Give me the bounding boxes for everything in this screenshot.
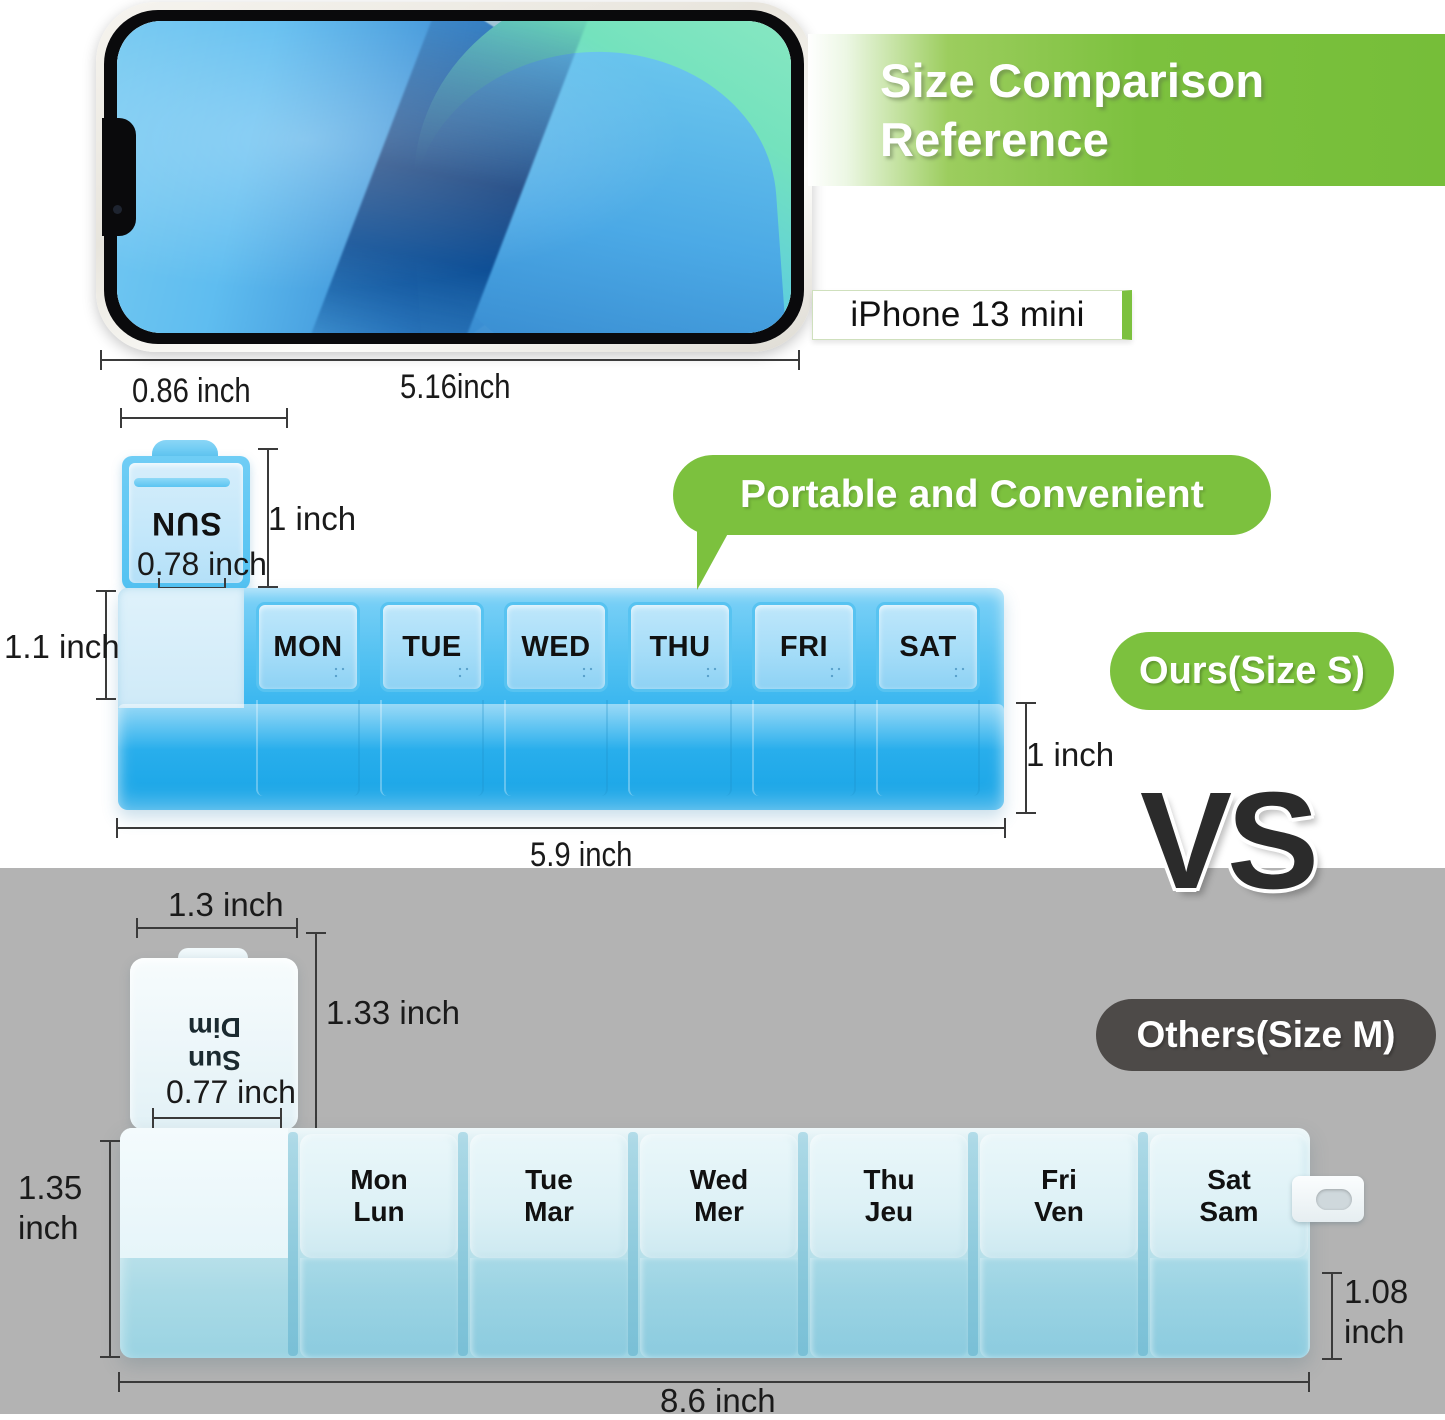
others-divider-1 [288, 1132, 298, 1356]
others-lid-height-dimension-text: 1.33 inch [326, 994, 460, 1032]
others-box-latch [1292, 1176, 1364, 1222]
others-day-label-sat: Sat Sam [1199, 1164, 1258, 1229]
ours-base-tue [380, 700, 484, 796]
phone-notch [102, 118, 136, 236]
others-divider-2 [458, 1132, 468, 1356]
others-day-label-mon: Mon Lun [350, 1164, 408, 1229]
others-compartment-sat: Sat Sam [1150, 1134, 1308, 1258]
phone-width-dimension-line [100, 350, 800, 370]
iphone-model-label: iPhone 13 mini [812, 290, 1132, 340]
ours-day-label-wed: WED [521, 631, 590, 664]
portable-convenient-text: Portable and Convenient [740, 473, 1204, 517]
others-pill-box: Mon Lun Tue Mar Wed Mer Thu Jeu Fri Ven … [120, 1128, 1310, 1358]
ours-lid-label: SUN [151, 505, 222, 542]
iphone-model-label-text: iPhone 13 mini [850, 295, 1084, 335]
iphone-13-mini-image [96, 2, 812, 352]
ours-lid-width-dimension-text: 0.78 inch [137, 546, 267, 583]
phone-screen [117, 21, 791, 333]
ours-size-badge-text: Ours(Size S) [1139, 650, 1365, 693]
others-compartment-tue: Tue Mar [470, 1134, 628, 1258]
braille-dots-icon [582, 667, 596, 683]
braille-dots-icon [706, 667, 720, 683]
others-box-height-dimension-text: 1.35 inch [18, 1168, 82, 1247]
phone-width-dimension-text: 5.16inch [400, 368, 511, 407]
phone-depth-dimension-line [120, 408, 288, 428]
others-base-thu [810, 1258, 968, 1358]
others-base-tue [470, 1258, 628, 1358]
ours-pill-box: MON TUE WED THU FRI SAT [118, 588, 1004, 810]
others-day-label-fri: Fri Ven [1034, 1164, 1084, 1229]
ours-base-mon [256, 700, 360, 796]
phone-frame [96, 2, 812, 352]
ours-day-label-sat: SAT [899, 631, 956, 664]
latch-hole-icon [1316, 1189, 1352, 1210]
others-divider-4 [798, 1132, 808, 1356]
ours-size-badge: Ours(Size S) [1110, 632, 1394, 710]
others-lid-height-dimension-line [306, 932, 326, 1132]
ours-box-length-dimension-text: 5.9 inch [530, 836, 632, 875]
braille-dots-icon [954, 667, 968, 683]
others-compartment-thu: Thu Jeu [810, 1134, 968, 1258]
header-title-line-1: Size Comparison [880, 51, 1445, 110]
others-box-depth-dimension-line [1322, 1272, 1342, 1360]
others-lid-width-dimension-line [152, 1108, 282, 1128]
ours-compartment-fri: FRI [752, 602, 856, 692]
others-lid-label: Sun Dim [188, 1011, 241, 1077]
ours-box-height-dimension-text: 1.1 inch [4, 628, 120, 666]
ours-box-depth-dimension-text: 1 inch [1026, 736, 1114, 774]
wallpaper-glow [117, 21, 791, 333]
others-base-fri [980, 1258, 1138, 1358]
braille-dots-icon [334, 667, 348, 683]
ours-compartment-tue: TUE [380, 602, 484, 692]
others-box-height-dimension-line [100, 1140, 120, 1358]
ours-base-fri [752, 700, 856, 796]
ours-base-thu [628, 700, 732, 796]
ours-day-label-thu: THU [649, 631, 710, 664]
ours-lid-height-dimension-text: 1 inch [268, 500, 356, 538]
others-compartment-mon: Mon Lun [300, 1134, 458, 1258]
others-divider-5 [968, 1132, 978, 1356]
phone-bezel [104, 10, 804, 344]
portable-convenient-bubble: Portable and Convenient [673, 455, 1271, 535]
braille-dots-icon [458, 667, 472, 683]
ours-compartment-wed: WED [504, 602, 608, 692]
others-compartment-wed: Wed Mer [640, 1134, 798, 1258]
vs-mark: VS [1140, 772, 1314, 910]
others-lid-width-dimension-text: 0.77 inch [166, 1074, 296, 1111]
ours-compartment-thu: THU [628, 602, 732, 692]
infographic-canvas: Size Comparison Reference iPhone 13 mini… [0, 0, 1445, 1414]
others-day-label-tue: Tue Mar [524, 1164, 574, 1229]
ours-day-label-mon: MON [273, 631, 342, 664]
others-day-label-thu: Thu Jeu [863, 1164, 914, 1229]
ours-box-length-dimension-line [116, 818, 1006, 838]
header-title-line-2: Reference [880, 110, 1445, 169]
header-banner: Size Comparison Reference [808, 34, 1445, 186]
ours-compartment-sat: SAT [876, 602, 980, 692]
ours-lid-hinge [134, 478, 230, 487]
others-base-mon [300, 1258, 458, 1358]
others-day-label-wed: Wed Mer [690, 1164, 749, 1229]
others-box-length-dimension-text: 8.6 inch [660, 1382, 776, 1420]
phone-depth-dimension-text: 0.86 inch [132, 372, 251, 411]
bubble-pointer [697, 528, 731, 590]
others-lid-top-width-dimension-text: 1.3 inch [168, 886, 284, 924]
ours-base-sat [876, 700, 980, 796]
others-box-depth-dimension-text: 1.08 inch [1344, 1272, 1408, 1351]
ours-open-compartment [118, 588, 244, 708]
others-base-wed [640, 1258, 798, 1358]
others-size-badge: Others(Size M) [1096, 999, 1436, 1071]
braille-dots-icon [830, 667, 844, 683]
others-divider-6 [1138, 1132, 1148, 1356]
ours-day-label-fri: FRI [780, 631, 828, 664]
others-divider-3 [628, 1132, 638, 1356]
ours-day-label-tue: TUE [402, 631, 462, 664]
others-base-sat [1150, 1258, 1308, 1358]
ours-compartment-mon: MON [256, 602, 360, 692]
others-size-badge-text: Others(Size M) [1136, 1014, 1395, 1056]
others-open-compartment [120, 1128, 288, 1258]
front-camera-icon [113, 205, 122, 214]
ours-base-wed [504, 700, 608, 796]
others-compartment-fri: Fri Ven [980, 1134, 1138, 1258]
